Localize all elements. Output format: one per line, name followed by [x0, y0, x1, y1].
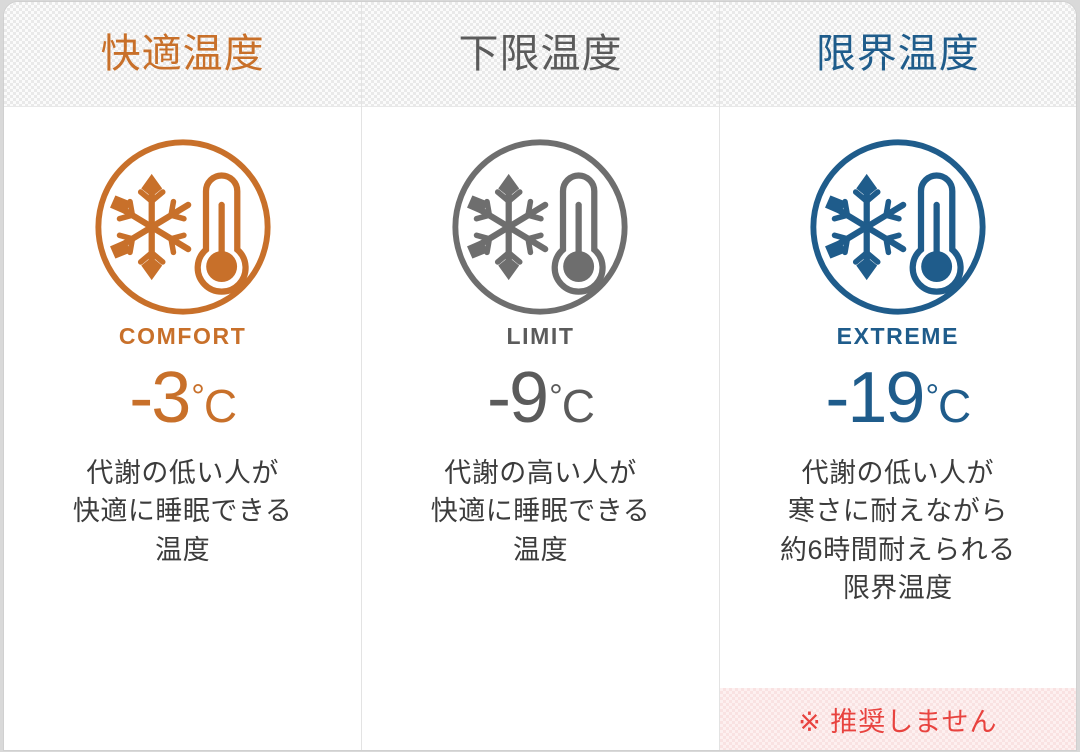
column-limit: 下限温度: [361, 2, 718, 750]
snowflake-thermometer-icon-extreme: [806, 135, 990, 319]
description-line: 代謝の高い人が: [431, 454, 650, 492]
column-body-extreme: EXTREME -19°C 代謝の低い人が 寒さに耐えながら 約6時間耐えられる…: [720, 107, 1076, 750]
description-comfort: 代謝の低い人が 快適に睡眠できる 温度: [73, 454, 292, 569]
temperature-value-extreme: -19°C: [825, 362, 970, 434]
column-header-limit: 下限温度: [362, 2, 718, 107]
column-title-extreme: 限界温度: [816, 34, 980, 74]
description-limit: 代謝の高い人が 快適に睡眠できる 温度: [431, 454, 650, 569]
temperature-number-comfort: 3: [151, 362, 189, 434]
column-header-extreme: 限界温度: [720, 2, 1076, 107]
description-line: 代謝の低い人が: [780, 454, 1016, 492]
description-line: 快適に睡眠できる: [431, 492, 650, 530]
degree-symbol-extreme: °: [925, 380, 938, 414]
description-line: 限界温度: [780, 569, 1016, 607]
description-line: 快適に睡眠できる: [73, 492, 292, 530]
column-title-comfort: 快適温度: [101, 34, 265, 74]
column-title-limit: 下限温度: [458, 34, 622, 74]
description-line: 温度: [73, 531, 292, 569]
temperature-value-limit: -9°C: [487, 362, 594, 434]
celsius-unit-limit: C: [562, 383, 594, 429]
temperature-sign-comfort: -: [129, 362, 151, 434]
warning-text: ※ 推奨しません: [798, 700, 997, 739]
screenshot-stage: 快適温度: [0, 0, 1080, 752]
snowflake-thermometer-icon-comfort: [91, 135, 275, 319]
temperature-columns: 快適温度: [4, 2, 1076, 750]
description-extreme: 代謝の低い人が 寒さに耐えながら 約6時間耐えられる 限界温度: [780, 454, 1016, 607]
temperature-rating-card: 快適温度: [4, 2, 1076, 750]
temperature-number-extreme: 19: [847, 362, 923, 434]
english-label-limit: LIMIT: [506, 325, 574, 348]
column-body-comfort: COMFORT -3°C 代謝の低い人が 快適に睡眠できる 温度: [4, 107, 361, 750]
description-line: 寒さに耐えながら: [780, 492, 1016, 530]
column-body-limit: LIMIT -9°C 代謝の高い人が 快適に睡眠できる 温度: [362, 107, 718, 750]
temperature-number-limit: 9: [509, 362, 547, 434]
description-line: 代謝の低い人が: [73, 454, 292, 492]
description-line: 約6時間耐えられる: [780, 531, 1016, 569]
column-extreme: 限界温度: [719, 2, 1076, 750]
degree-symbol-comfort: °: [191, 380, 204, 414]
snowflake-thermometer-icon-limit: [448, 135, 632, 319]
column-header-comfort: 快適温度: [4, 2, 361, 107]
description-line: 温度: [431, 531, 650, 569]
column-comfort: 快適温度: [4, 2, 361, 750]
temperature-sign-limit: -: [487, 362, 509, 434]
warning-banner-not-recommended: ※ 推奨しません: [720, 688, 1076, 750]
celsius-unit-extreme: C: [938, 383, 970, 429]
temperature-value-comfort: -3°C: [129, 362, 236, 434]
english-label-extreme: EXTREME: [837, 325, 959, 348]
celsius-unit-comfort: C: [204, 383, 236, 429]
temperature-sign-extreme: -: [825, 362, 847, 434]
degree-symbol-limit: °: [549, 380, 562, 414]
english-label-comfort: COMFORT: [119, 325, 246, 348]
